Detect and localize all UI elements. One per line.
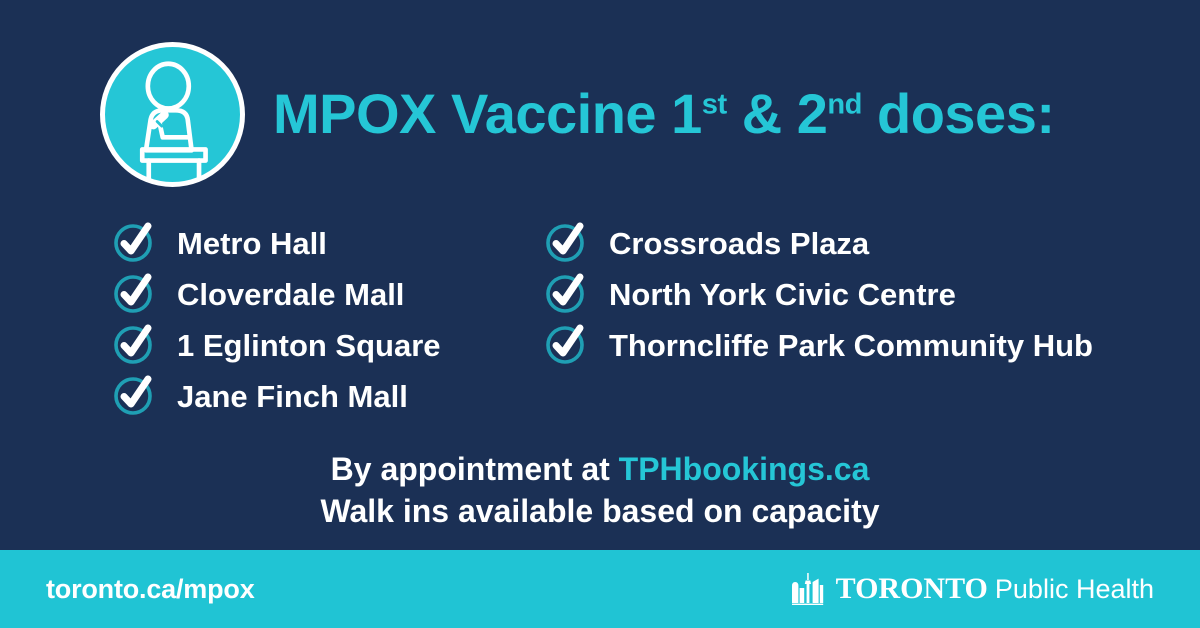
list-item[interactable]: 1 Eglinton Square [113, 320, 441, 370]
clinic-name: Metro Hall [177, 228, 327, 259]
clinic-locations: Metro Hall Cloverdale Mall [0, 218, 1200, 428]
check-circle-icon [113, 325, 153, 365]
clinic-name: Thorncliffe Park Community Hub [609, 330, 1093, 361]
seated-person-vaccination-icon [105, 47, 240, 182]
list-item[interactable]: Metro Hall [113, 218, 441, 268]
list-item[interactable]: Cloverdale Mall [113, 269, 441, 319]
vaccination-badge [100, 42, 245, 187]
booking-instructions: By appointment at TPHbookings.ca Walk in… [0, 448, 1200, 532]
clinic-column-right: Crossroads Plaza North York Civic Centre [545, 218, 1093, 371]
title-mid: & 2 [727, 82, 828, 145]
poster-canvas: MPOX Vaccine 1st & 2nd doses: Metro Hall [0, 0, 1200, 628]
logo-wordmark-public-health: Public Health [995, 576, 1154, 603]
list-item[interactable]: Crossroads Plaza [545, 218, 1093, 268]
booking-prefix: By appointment at [331, 451, 619, 487]
check-circle-icon [545, 325, 585, 365]
list-item[interactable]: North York Civic Centre [545, 269, 1093, 319]
toronto-public-health-logo: Toronto Public Health [792, 569, 1154, 609]
check-circle-icon [545, 274, 585, 314]
title-ordinal-first: st [702, 88, 727, 120]
page-title: MPOX Vaccine 1st & 2nd doses: [273, 86, 1055, 142]
booking-url-link[interactable]: TPHbookings.ca [619, 451, 870, 487]
booking-line-appointment: By appointment at TPHbookings.ca [0, 448, 1200, 490]
clinic-name: Crossroads Plaza [609, 228, 869, 259]
logo-wordmark-toronto: Toronto [836, 574, 988, 604]
title-main: MPOX Vaccine 1 [273, 82, 702, 145]
check-circle-icon [113, 274, 153, 314]
title-ordinal-second: nd [827, 88, 862, 120]
footer-bar: toronto.ca/mpox [0, 550, 1200, 628]
toronto-skyline-icon [792, 573, 830, 605]
title-end: doses: [862, 82, 1055, 145]
list-item[interactable]: Thorncliffe Park Community Hub [545, 320, 1093, 370]
clinic-name: Jane Finch Mall [177, 381, 408, 412]
footer-url[interactable]: toronto.ca/mpox [46, 576, 255, 603]
clinic-name: North York Civic Centre [609, 279, 956, 310]
booking-line-walkin: Walk ins available based on capacity [0, 490, 1200, 532]
check-circle-icon [113, 223, 153, 263]
clinic-name: Cloverdale Mall [177, 279, 404, 310]
clinic-name: 1 Eglinton Square [177, 330, 441, 361]
check-circle-icon [545, 223, 585, 263]
list-item[interactable]: Jane Finch Mall [113, 371, 441, 421]
clinic-column-left: Metro Hall Cloverdale Mall [113, 218, 441, 422]
poster-header: MPOX Vaccine 1st & 2nd doses: [0, 34, 1200, 194]
check-circle-icon [113, 376, 153, 416]
